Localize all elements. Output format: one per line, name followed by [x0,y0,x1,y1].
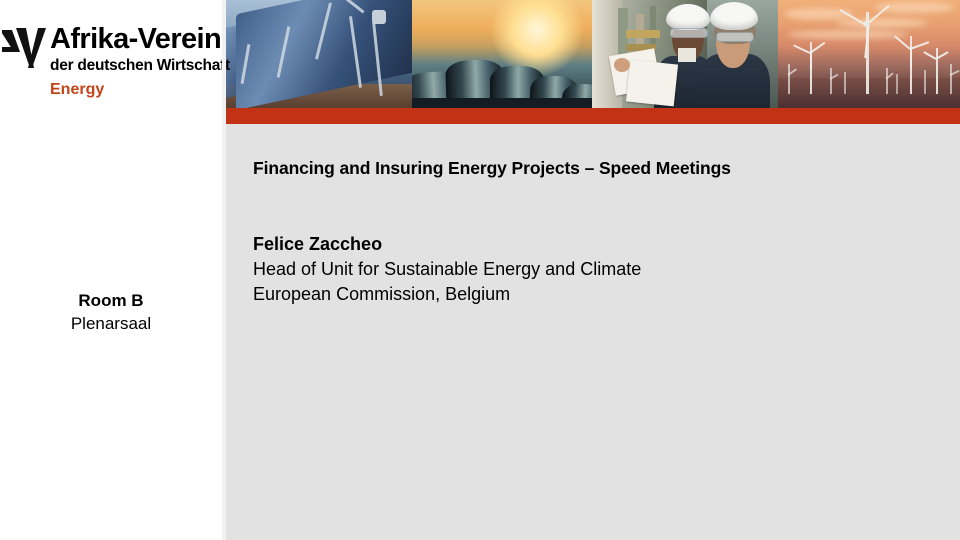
content-panel: Financing and Insuring Energy Projects –… [226,124,960,540]
logo-line-subtitle: der deutschen Wirtschaft [50,56,222,75]
orange-accent-bar [226,108,960,124]
sidebar-divider [222,0,226,540]
session-title: Financing and Insuring Energy Projects –… [253,157,933,180]
room-name: Room B [0,289,222,312]
speaker-name: Felice Zaccheo [253,232,933,257]
banner-image-pipeline-sunset [412,0,592,108]
speaker-block: Felice Zaccheo Head of Unit for Sustaina… [253,232,933,307]
logo-wordmark: Afrika-Verein der deutschen Wirtschaft E… [50,24,222,99]
banner-image-solar-trough [226,0,412,108]
banner-image-engineers [592,0,778,108]
room-subtitle: Plenarsaal [0,312,222,335]
speaker-organisation: European Commission, Belgium [253,282,933,307]
logo-line-afrika-verein: Afrika-Verein [50,24,222,54]
logo-line-energy: Energy [50,80,222,99]
room-block: Room B Plenarsaal [0,289,222,335]
presentation-slide: Afrika-Verein der deutschen Wirtschaft E… [0,0,960,540]
organisation-logo: Afrika-Verein der deutschen Wirtschaft E… [0,10,222,110]
afrika-verein-av-monogram-icon [2,22,50,78]
left-sidebar: Afrika-Verein der deutschen Wirtschaft E… [0,0,222,540]
banner-image-wind-farm [778,0,960,108]
speaker-role: Head of Unit for Sustainable Energy and … [253,257,933,282]
header-image-banner [226,0,960,108]
